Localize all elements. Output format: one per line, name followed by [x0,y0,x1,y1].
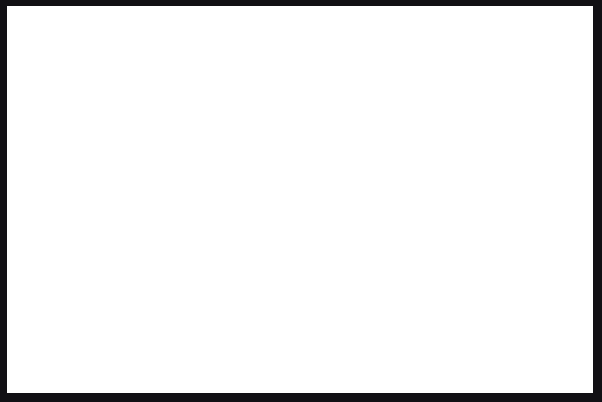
scene-top-right: · ╱ ╲ ·· — · — ·╳ · ╲ 8岁小龙一出生就受到宪法保护 案例分… [311,14,579,196]
audience [25,112,289,196]
fan-rod [517,21,522,36]
photo-collage: 学宪法 讲宪法 宪法宣传周 主题班会 学宪法 讲宪法 宪法宣传周主题班会 [0,0,602,402]
photo-bottom-right[interactable]: 宪法宣传 法治校园 · · · · · · · ·· · · · · · [311,206,579,386]
blackboard-line-1: 学宪法 [72,63,124,72]
blackboard-handwriting: 学宪法 讲宪法 宪法宣传周 主题班会 [72,63,124,98]
ceiling-fan-icon [407,213,466,224]
projector-icon [477,32,504,41]
slide-title: 学宪法 讲宪法 [159,279,192,285]
slide-title: 学宪法 讲宪法 [122,69,229,80]
photo-bottom-left[interactable]: 学宪法 讲宪法 [25,206,289,386]
projector-mount [202,210,207,223]
photo-top-right[interactable]: · ╱ ╲ ·· — · — ·╳ · ╲ 8岁小龙一出生就受到宪法保护 案例分… [311,14,579,196]
photo-top-left[interactable]: 学宪法 讲宪法 宪法宣传周 主题班会 学宪法 讲宪法 宪法宣传周主题班会 [25,14,289,196]
blackboard: · ╱ ╲ ·· — · — ·╳ · ╲ [378,78,440,118]
scene-bottom-left: 学宪法 讲宪法 [25,206,289,386]
scales-of-justice-icon [503,276,522,295]
ceiling-fan-icon [349,235,397,244]
speaker-icon [239,25,257,47]
slide-rule [446,68,516,70]
projector-icon [189,220,223,233]
projection-screen[interactable]: 8岁小龙一出生就受到宪法保护 案例分析：小龙出生后即享有公民权利，宪法保护每一位… [442,52,520,119]
smartboard-screen: 学宪法 讲宪法 宪法宣传周主题班会 [122,57,229,106]
wall-clock-icon [135,21,159,45]
blackboard-line-2: 讲宪法 [72,73,124,82]
chair-back [316,171,364,187]
slide-title: 宪法宣传 法治校园 [469,276,499,281]
wall-sign [528,280,539,285]
photo-grid: 学宪法 讲宪法 宪法宣传周 主题班会 学宪法 讲宪法 宪法宣传周主题班会 [0,0,602,402]
slide-body-1: 案例分析：小龙出生后即享有公民权利，宪法保护每一位公民的基本权利与人格尊严。 [449,72,514,78]
bag [437,368,461,381]
slide-body: · · · · · · · ·· · · · · · [469,282,495,288]
wall-clock-icon [405,58,426,80]
slide-body-2: 法律规定：未成年人受到家庭、学校、社会和司法的特殊保护，任何组织和个人不得侵害。 [449,84,514,90]
scene-bottom-right: 宪法宣传 法治校园 · · · · · · · ·· · · · · · [311,206,579,386]
slide-banner [131,92,155,96]
audience [25,303,289,386]
projector-icon [466,253,490,262]
slide-title: 8岁小龙一出生就受到宪法保护 [448,58,515,64]
smartboard[interactable]: 学宪法 讲宪法 宪法宣传周主题班会 [120,55,231,108]
slide-photo-placeholder [469,98,493,114]
scene-top-left: 学宪法 讲宪法 宪法宣传周 主题班会 学宪法 讲宪法 宪法宣传周主题班会 [25,14,289,196]
fan-rod [349,21,354,34]
chair-back [391,174,434,190]
projection-screen-surface: 8岁小龙一出生就受到宪法保护 案例分析：小龙出生后即享有公民权利，宪法保护每一位… [443,53,519,118]
slide-subtitle: 宪法宣传周主题班会 [122,80,229,83]
chair-back [461,174,504,190]
ceiling-fan-icon [332,29,380,38]
blackboard-chalk-marks: · ╱ ╲ ·· — · — ·╳ · ╲ [385,85,433,93]
speaker-icon [59,25,77,47]
blackboard-note: 宪法宣传周 主题班会 [72,83,124,86]
wall-notice-board [43,265,64,283]
